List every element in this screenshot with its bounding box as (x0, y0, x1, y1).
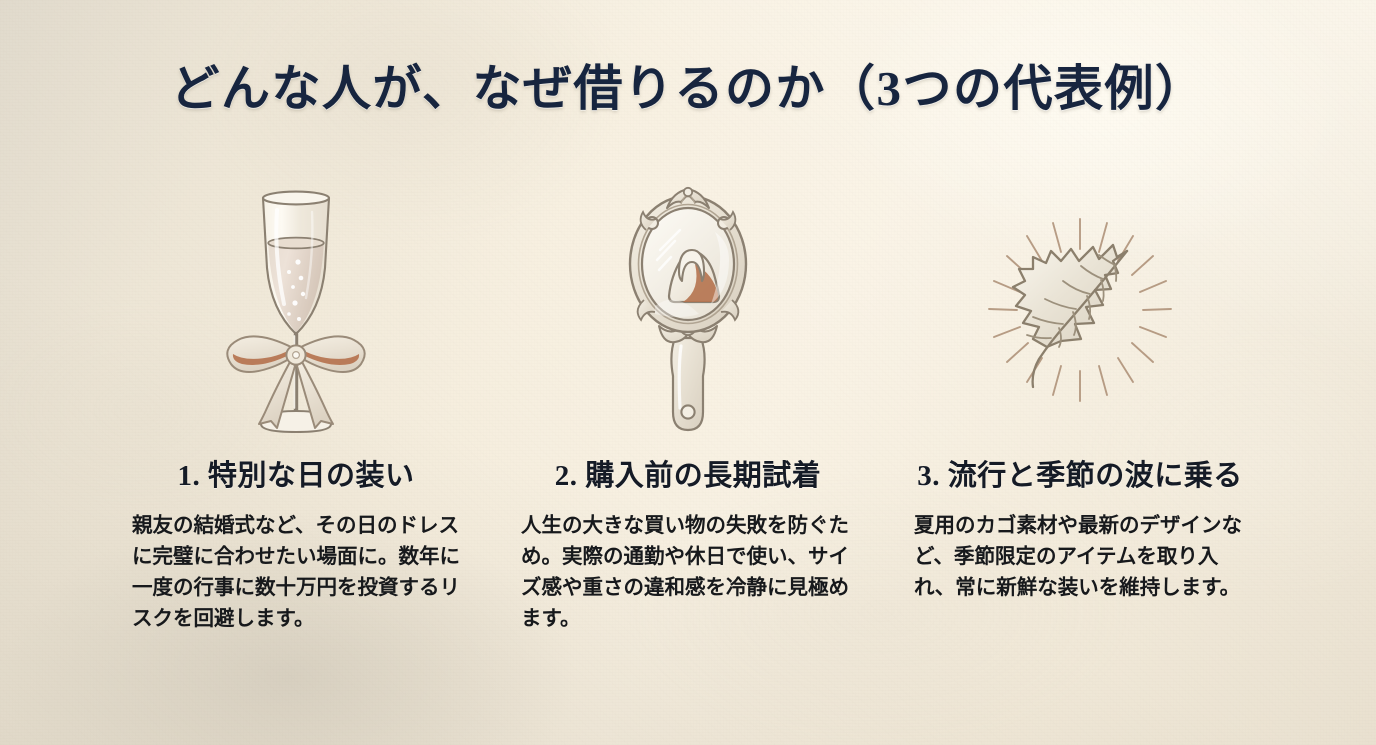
slide-canvas: どんな人が、なぜ借りるのか（3つの代表例） (0, 0, 1376, 745)
slide-content: どんな人が、なぜ借りるのか（3つの代表例） (0, 0, 1376, 745)
list-item-1-heading: 1. 特別な日の装い (177, 452, 414, 494)
champagne-glass-with-ribbon-icon (211, 186, 381, 436)
list-item-3-heading: 3. 流行と季節の波に乗る (917, 452, 1243, 494)
leaf-blade (1013, 245, 1127, 347)
hand-mirror-with-handbag-icon (603, 186, 773, 436)
page-title: どんな人が、なぜ借りるのか（3つの代表例） (0, 49, 1376, 120)
list-item-1-body: 親友の結婚式など、その日のドレスに完璧に合わせたい場面に。数年に一度の行事に数十… (132, 510, 470, 635)
mirror-handle-highlight (679, 346, 681, 408)
column-3-artwork (884, 180, 1276, 442)
mirror-handle-hole (681, 405, 694, 418)
mirror-crown-finial (684, 188, 692, 196)
list-item-2: 2. 購入前の長期試着 人生の大きな買い物の失敗を防ぐため。実際の通勤や休日で使… (492, 180, 884, 635)
leaf-with-sunburst-icon (975, 211, 1185, 411)
glass-rim (263, 192, 329, 205)
ribbon-knot-center (293, 352, 300, 359)
column-2-artwork (492, 180, 884, 442)
list-item-2-heading: 2. 購入前の長期試着 (555, 452, 822, 494)
list-item-3: 3. 流行と季節の波に乗る 夏用のカゴ素材や最新のデザインなど、季節限定のアイテ… (884, 180, 1276, 603)
three-column-list: 1. 特別な日の装い 親友の結婚式など、その日のドレスに完璧に合わせたい場面に。… (0, 180, 1376, 635)
list-item-3-body: 夏用のカゴ素材や最新のデザインなど、季節限定のアイテムを取り入れ、常に新鮮な装い… (914, 510, 1252, 603)
column-1-artwork (100, 180, 492, 442)
list-item-2-body: 人生の大きな買い物の失敗を防ぐため。実際の通勤や休日で使い、サイズ感や重さの違和… (521, 510, 859, 635)
list-item-1: 1. 特別な日の装い 親友の結婚式など、その日のドレスに完璧に合わせたい場面に。… (100, 180, 492, 635)
